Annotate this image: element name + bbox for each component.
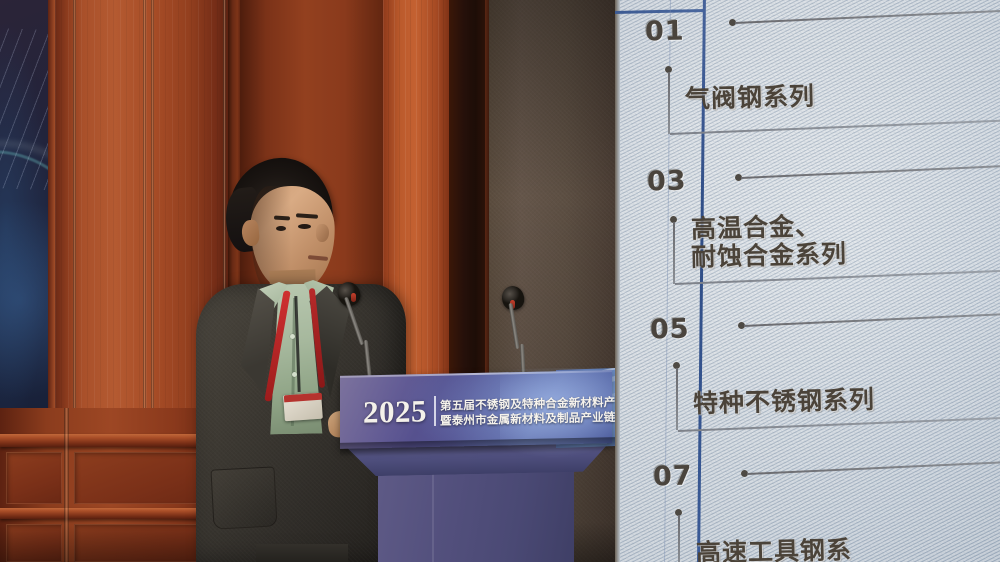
slide-item-connector (678, 515, 680, 562)
speaker-eye (298, 224, 311, 229)
projection-screen: 01 气阀钢系列 03 高温合金、 耐蚀合金系列 05 特种不锈钢系 (615, 0, 1000, 562)
slide-item-label: 高速工具钢系 (696, 536, 853, 562)
fabric-wall-shading (489, 0, 617, 562)
speaker-person (196, 158, 406, 562)
microphone-ring (351, 293, 356, 302)
slide-item-label: 气阀钢系列 (685, 83, 816, 113)
slide-item-number: 03 (647, 166, 687, 198)
slide-item-number: 05 (650, 314, 690, 346)
wood-panel-dark (449, 0, 487, 562)
shirt-button (290, 334, 295, 339)
slide-item-number: 07 (653, 461, 693, 493)
conference-photo: 2025 第五届不锈钢及特种合金新材料产业发展大会 暨泰州市金属新材料及制品产业… (0, 0, 1000, 562)
wainscot-panel (6, 452, 62, 504)
slide-item-label-line-2: 耐蚀合金系列 (691, 240, 848, 271)
speaker-jacket-pocket (210, 466, 277, 529)
slide-item-number: 01 (645, 16, 685, 48)
slide-item-connector (673, 222, 675, 284)
slide-item-connector (668, 72, 670, 134)
speaker-eye (276, 226, 286, 231)
screen-left-edge (615, 0, 620, 562)
slide-item-label: 特种不锈钢系列 (693, 386, 876, 417)
slide-item-label-line-1: 高温合金、 (691, 213, 822, 243)
speaker-trousers (256, 544, 348, 562)
slide-item-connector (676, 368, 678, 430)
